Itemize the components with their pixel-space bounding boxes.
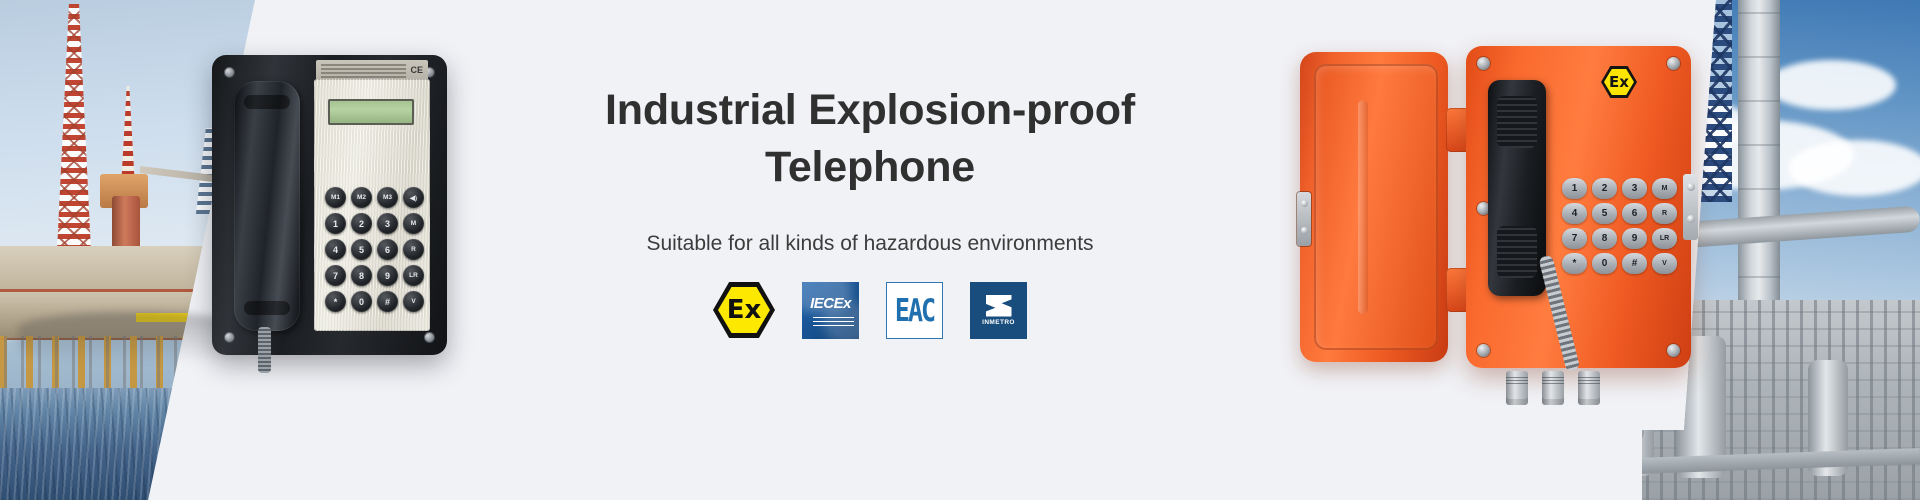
key-5[interactable]: 5 [351,239,372,260]
key-1[interactable]: 1 [1562,178,1587,199]
atex-ex-mark: Ex [727,297,762,323]
key-4[interactable]: 4 [325,239,346,260]
cable-gland [1578,371,1600,405]
lcd-display [328,99,414,125]
iecex-badge-icon: IECEx [802,282,859,339]
atex-ex-sticker-icon: Ex [1601,66,1637,98]
key-4[interactable]: 4 [1562,203,1587,224]
side-mounting-plate [1683,174,1698,240]
page-title: Industrial Explosion-proof Telephone [605,82,1135,196]
cable-glands [1506,371,1600,405]
key-6[interactable]: 6 [1622,203,1647,224]
banner-text-block: Industrial Explosion-proof Telephone Sui… [510,0,1230,500]
key-5[interactable]: 5 [1592,203,1617,224]
screw-icon [224,332,235,343]
armored-handset-cord [258,327,271,373]
product-banner: CE M1 M2 M3 ◀) 1 2 3 M 4 5 6 R 7 8 9 LR [0,0,1920,500]
telephone-handset [234,81,300,331]
key-hash[interactable]: # [1622,253,1647,274]
key-7[interactable]: 7 [1562,228,1587,249]
door-inner-panel [1314,64,1438,350]
screw-icon [1667,344,1680,357]
cable-gland [1542,371,1564,405]
key-lr[interactable]: LR [403,265,424,286]
key-volume[interactable]: V [1652,253,1677,274]
stainless-front-panel: M1 M2 M3 ◀) 1 2 3 M 4 5 6 R 7 8 9 LR * 0… [314,79,430,331]
cloud [1766,60,1896,110]
telephone-handset [1488,80,1546,296]
enclosure-door [1300,52,1448,362]
key-3[interactable]: 3 [1622,178,1647,199]
door-latch[interactable] [1297,192,1311,246]
key-2[interactable]: 2 [351,213,372,234]
key-0[interactable]: 0 [1592,253,1617,274]
key-8[interactable]: 8 [351,265,372,286]
keypad-black: M1 M2 M3 ◀) 1 2 3 M 4 5 6 R 7 8 9 LR * 0… [325,187,421,312]
key-star[interactable]: * [325,291,346,312]
key-m3[interactable]: M3 [377,187,398,208]
key-8[interactable]: 8 [1592,228,1617,249]
product-black-telephone: CE M1 M2 M3 ◀) 1 2 3 M 4 5 6 R 7 8 9 LR [212,55,447,355]
key-m[interactable]: M [403,213,424,234]
cloud [1788,140,1920,196]
cable-gland [1506,371,1528,405]
atex-badge-icon: Ex [713,282,775,338]
iecex-line-graphic [813,314,854,326]
enclosure-body: Ex 1 2 3 M 4 5 6 R 7 8 9 LR * 0 # V [1466,46,1691,368]
key-volume[interactable]: V [403,291,424,312]
key-hash[interactable]: # [377,291,398,312]
key-9[interactable]: 9 [377,265,398,286]
key-0[interactable]: 0 [351,291,372,312]
key-7[interactable]: 7 [325,265,346,286]
key-m[interactable]: M [1652,178,1677,199]
screw-icon [424,332,435,343]
page-subtitle: Suitable for all kinds of hazardous envi… [646,232,1093,256]
screw-icon [1477,344,1490,357]
key-lr[interactable]: LR [1652,228,1677,249]
eac-label: EAC [895,292,934,328]
title-line-2: Telephone [605,139,1135,196]
door-rib [1358,100,1368,314]
key-6[interactable]: 6 [377,239,398,260]
certification-badges: Ex IECEx EAC INMETRO [713,282,1027,339]
sea-water [0,388,300,500]
inmetro-label: INMETRO [982,319,1015,326]
eac-badge-icon: EAC [886,282,943,339]
screw-icon [1477,57,1490,70]
keypad-orange: 1 2 3 M 4 5 6 R 7 8 9 LR * 0 # V [1562,178,1678,274]
key-r[interactable]: R [403,239,424,260]
key-2[interactable]: 2 [1592,178,1617,199]
key-star[interactable]: * [1562,253,1587,274]
screw-icon [1667,57,1680,70]
key-speaker-icon[interactable]: ◀) [403,187,424,208]
key-9[interactable]: 9 [1622,228,1647,249]
key-m2[interactable]: M2 [351,187,372,208]
product-orange-telephone: Ex 1 2 3 M 4 5 6 R 7 8 9 LR * 0 # V [1300,38,1720,383]
key-1[interactable]: 1 [325,213,346,234]
screw-icon [224,67,235,78]
title-line-1: Industrial Explosion-proof [605,82,1135,139]
key-m1[interactable]: M1 [325,187,346,208]
key-r[interactable]: R [1652,203,1677,224]
ce-mark: CE [410,65,423,75]
inmetro-emblem [986,295,1012,317]
inmetro-badge-icon: INMETRO [970,282,1027,339]
key-3[interactable]: 3 [377,213,398,234]
iecex-label: IECEx [802,295,859,312]
